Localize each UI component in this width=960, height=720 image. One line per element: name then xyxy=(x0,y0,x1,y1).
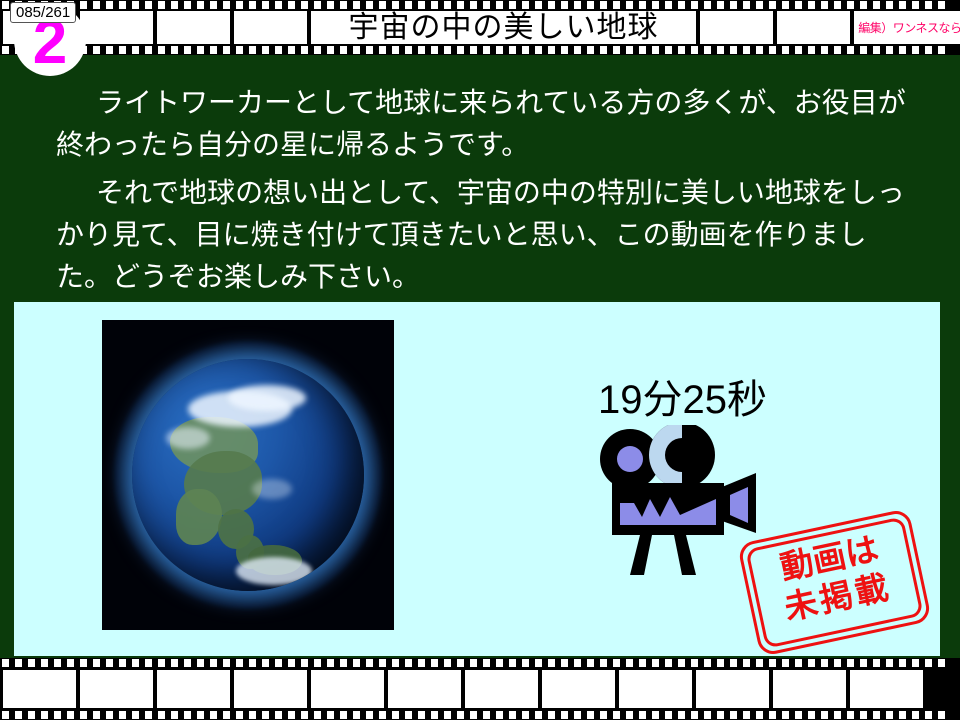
sprocket-hole xyxy=(613,711,620,719)
sprocket-hole xyxy=(249,659,256,667)
sprocket-hole xyxy=(236,659,243,667)
sprocket-hole xyxy=(275,1,282,9)
sprocket-hole xyxy=(327,1,334,9)
sprocket-hole xyxy=(626,659,633,667)
sprocket-hole xyxy=(613,1,620,9)
sprocket-hole xyxy=(769,711,776,719)
duration-label: 19分25秒 xyxy=(598,378,767,422)
sprocket-hole xyxy=(561,711,568,719)
sprocket-hole xyxy=(431,711,438,719)
sprocket-hole xyxy=(496,46,503,54)
film-frame xyxy=(234,670,307,708)
sprocket-row-bottom xyxy=(0,711,960,719)
sprocket-hole xyxy=(548,711,555,719)
sprocket-hole xyxy=(106,711,113,719)
sprocket-hole xyxy=(2,1,9,9)
sprocket-hole xyxy=(626,1,633,9)
sprocket-hole xyxy=(652,46,659,54)
sprocket-hole xyxy=(483,711,490,719)
filmstrip-top-frames: 宇宙の中の美しい地球 編集）ワンネスなら-YASKA xyxy=(0,11,960,44)
sprocket-hole xyxy=(158,659,165,667)
sprocket-hole xyxy=(691,46,698,54)
sprocket-hole xyxy=(340,1,347,9)
sprocket-hole xyxy=(899,46,906,54)
sprocket-hole xyxy=(821,659,828,667)
sprocket-hole xyxy=(366,1,373,9)
sprocket-hole xyxy=(314,711,321,719)
filmstrip-top: 宇宙の中の美しい地球 編集）ワンネスなら-YASKA xyxy=(0,0,960,55)
sprocket-hole xyxy=(574,711,581,719)
sprocket-hole xyxy=(873,711,880,719)
sprocket-hole xyxy=(522,711,529,719)
film-frame xyxy=(773,670,846,708)
sprocket-hole xyxy=(392,659,399,667)
sprocket-hole xyxy=(67,659,74,667)
sprocket-hole xyxy=(80,659,87,667)
sprocket-hole xyxy=(197,711,204,719)
sprocket-hole xyxy=(262,711,269,719)
sprocket-hole xyxy=(912,711,919,719)
sprocket-hole xyxy=(457,659,464,667)
sprocket-row-bottom-upper xyxy=(0,659,960,667)
sprocket-hole xyxy=(717,1,724,9)
sprocket-hole xyxy=(782,659,789,667)
sprocket-hole xyxy=(106,46,113,54)
sprocket-hole xyxy=(405,1,412,9)
sprocket-hole xyxy=(236,1,243,9)
sprocket-hole xyxy=(834,1,841,9)
sprocket-hole xyxy=(145,46,152,54)
sprocket-hole xyxy=(184,46,191,54)
cloud-patch-pacific xyxy=(252,479,292,499)
sprocket-hole xyxy=(847,711,854,719)
sprocket-hole xyxy=(821,46,828,54)
sprocket-hole xyxy=(496,711,503,719)
sprocket-hole xyxy=(327,659,334,667)
sprocket-hole xyxy=(509,1,516,9)
sprocket-hole xyxy=(613,46,620,54)
sprocket-hole xyxy=(730,711,737,719)
earth-photo xyxy=(102,320,394,630)
sprocket-hole xyxy=(54,659,61,667)
sprocket-hole xyxy=(210,711,217,719)
sprocket-hole xyxy=(132,711,139,719)
film-frame xyxy=(619,670,692,708)
sprocket-hole xyxy=(808,659,815,667)
sprocket-hole xyxy=(262,1,269,9)
sprocket-hole xyxy=(600,1,607,9)
sprocket-hole xyxy=(691,711,698,719)
sprocket-hole xyxy=(301,46,308,54)
sprocket-hole xyxy=(210,659,217,667)
page-counter: 085/261 xyxy=(10,2,76,23)
sprocket-hole xyxy=(353,46,360,54)
film-frame xyxy=(542,670,615,708)
sprocket-hole xyxy=(28,659,35,667)
sprocket-hole xyxy=(314,659,321,667)
page-title: 宇宙の中の美しい地球 xyxy=(311,13,696,43)
sprocket-hole xyxy=(756,46,763,54)
sprocket-hole xyxy=(223,711,230,719)
film-frame xyxy=(388,670,461,708)
sprocket-hole xyxy=(379,711,386,719)
sprocket-hole xyxy=(717,659,724,667)
sprocket-hole xyxy=(717,46,724,54)
sprocket-hole xyxy=(93,46,100,54)
sprocket-hole xyxy=(743,1,750,9)
sprocket-hole xyxy=(535,659,542,667)
sprocket-hole xyxy=(600,659,607,667)
sprocket-hole xyxy=(743,711,750,719)
sprocket-hole xyxy=(15,711,22,719)
sprocket-hole xyxy=(340,659,347,667)
sprocket-hole xyxy=(665,711,672,719)
sprocket-hole xyxy=(223,1,230,9)
sprocket-hole xyxy=(2,659,9,667)
sprocket-hole xyxy=(223,46,230,54)
film-frame xyxy=(777,11,850,44)
sprocket-hole xyxy=(392,46,399,54)
sprocket-hole xyxy=(106,1,113,9)
sprocket-hole xyxy=(197,46,204,54)
sprocket-hole xyxy=(288,711,295,719)
sprocket-hole xyxy=(171,1,178,9)
film-frame xyxy=(700,11,773,44)
sprocket-hole xyxy=(106,659,113,667)
sprocket-hole xyxy=(548,659,555,667)
film-frame xyxy=(80,670,153,708)
sprocket-hole xyxy=(340,46,347,54)
film-frame xyxy=(465,670,538,708)
sprocket-hole xyxy=(795,1,802,9)
sprocket-hole xyxy=(249,46,256,54)
sprocket-hole xyxy=(15,659,22,667)
sprocket-hole xyxy=(769,46,776,54)
sprocket-hole xyxy=(899,659,906,667)
sprocket-hole xyxy=(678,1,685,9)
sprocket-hole xyxy=(756,711,763,719)
body-text: ライトワーカーとして地球に来られている方の多くが、お役目が終わったら自分の星に帰… xyxy=(56,82,916,304)
sprocket-hole xyxy=(184,711,191,719)
sprocket-hole xyxy=(938,659,945,667)
sprocket-hole xyxy=(808,1,815,9)
sprocket-hole xyxy=(912,1,919,9)
sprocket-hole xyxy=(457,711,464,719)
sprocket-hole xyxy=(678,711,685,719)
sprocket-hole xyxy=(431,46,438,54)
sprocket-hole xyxy=(860,711,867,719)
sprocket-hole xyxy=(353,1,360,9)
sprocket-hole xyxy=(665,1,672,9)
film-frame xyxy=(157,11,230,44)
sprocket-hole xyxy=(821,1,828,9)
sprocket-row-top xyxy=(0,1,960,9)
sprocket-hole xyxy=(938,711,945,719)
sprocket-hole xyxy=(834,46,841,54)
sprocket-hole xyxy=(249,711,256,719)
sprocket-hole xyxy=(93,1,100,9)
sprocket-hole xyxy=(912,659,919,667)
sprocket-hole xyxy=(93,659,100,667)
sprocket-hole xyxy=(41,659,48,667)
sprocket-row-top-lower xyxy=(0,46,960,54)
cloud-band-siberia xyxy=(228,385,306,411)
sprocket-hole xyxy=(2,46,9,54)
sprocket-hole xyxy=(548,46,555,54)
sprocket-hole xyxy=(782,1,789,9)
sprocket-hole xyxy=(457,1,464,9)
sprocket-hole xyxy=(379,46,386,54)
sprocket-hole xyxy=(28,711,35,719)
paragraph-2-text: それで地球の想い出として、宇宙の中の特別に美しい地球をしっかり見て、目に焼き付け… xyxy=(56,177,905,292)
sprocket-hole xyxy=(600,711,607,719)
sprocket-hole xyxy=(704,46,711,54)
sprocket-hole xyxy=(626,46,633,54)
sprocket-hole xyxy=(197,1,204,9)
sprocket-hole xyxy=(210,46,217,54)
sprocket-hole xyxy=(873,1,880,9)
sprocket-hole xyxy=(41,711,48,719)
sprocket-hole xyxy=(392,711,399,719)
sprocket-hole xyxy=(665,46,672,54)
sprocket-hole xyxy=(470,659,477,667)
sprocket-hole xyxy=(808,46,815,54)
sprocket-hole xyxy=(184,1,191,9)
sprocket-hole xyxy=(769,659,776,667)
sprocket-hole xyxy=(405,46,412,54)
sprocket-hole xyxy=(938,1,945,9)
sprocket-hole xyxy=(444,659,451,667)
sprocket-hole xyxy=(886,711,893,719)
sprocket-hole xyxy=(886,46,893,54)
sprocket-hole xyxy=(860,1,867,9)
credit-frame: 編集）ワンネスなら-YASKA xyxy=(854,11,960,44)
sprocket-hole xyxy=(847,659,854,667)
sprocket-hole xyxy=(405,659,412,667)
sprocket-hole xyxy=(171,46,178,54)
sprocket-hole xyxy=(730,1,737,9)
sprocket-hole xyxy=(366,46,373,54)
sprocket-hole xyxy=(275,659,282,667)
filmstrip-bottom xyxy=(0,658,960,720)
sprocket-hole xyxy=(535,1,542,9)
sprocket-hole xyxy=(639,1,646,9)
sprocket-hole xyxy=(353,711,360,719)
sprocket-hole xyxy=(405,711,412,719)
filmstrip-bottom-frames xyxy=(0,670,960,708)
sprocket-hole xyxy=(704,659,711,667)
sprocket-hole xyxy=(899,711,906,719)
sprocket-hole xyxy=(119,659,126,667)
sprocket-hole xyxy=(925,711,932,719)
sprocket-hole xyxy=(600,46,607,54)
sprocket-hole xyxy=(691,1,698,9)
sprocket-hole xyxy=(795,711,802,719)
sprocket-hole xyxy=(535,711,542,719)
sprocket-hole xyxy=(574,659,581,667)
sprocket-hole xyxy=(743,659,750,667)
sprocket-hole xyxy=(808,711,815,719)
sprocket-hole xyxy=(132,1,139,9)
sprocket-hole xyxy=(197,659,204,667)
sprocket-hole xyxy=(912,46,919,54)
sprocket-hole xyxy=(2,711,9,719)
sprocket-hole xyxy=(288,46,295,54)
sprocket-hole xyxy=(327,711,334,719)
sprocket-hole xyxy=(587,659,594,667)
sprocket-hole xyxy=(431,1,438,9)
sprocket-hole xyxy=(561,659,568,667)
sprocket-hole xyxy=(574,46,581,54)
sprocket-hole xyxy=(288,659,295,667)
sprocket-hole xyxy=(509,659,516,667)
sprocket-hole xyxy=(886,1,893,9)
sprocket-hole xyxy=(509,46,516,54)
sprocket-hole xyxy=(470,1,477,9)
sprocket-hole xyxy=(860,46,867,54)
sprocket-hole xyxy=(262,659,269,667)
sprocket-hole xyxy=(639,711,646,719)
sprocket-hole xyxy=(873,46,880,54)
sprocket-hole xyxy=(119,711,126,719)
paragraph-2: それで地球の想い出として、宇宙の中の特別に美しい地球をしっかり見て、目に焼き付け… xyxy=(56,172,916,298)
sprocket-hole xyxy=(756,659,763,667)
sprocket-hole xyxy=(522,1,529,9)
cloud-patch-west xyxy=(166,427,210,449)
sprocket-hole xyxy=(275,711,282,719)
sprocket-hole xyxy=(509,711,516,719)
sprocket-hole xyxy=(184,659,191,667)
ice-antarctic xyxy=(236,557,312,585)
paragraph-1: ライトワーカーとして地球に来られている方の多くが、お役目が終わったら自分の星に帰… xyxy=(56,82,916,166)
sprocket-hole xyxy=(483,659,490,667)
sprocket-hole xyxy=(418,659,425,667)
sprocket-hole xyxy=(223,659,230,667)
sprocket-hole xyxy=(54,711,61,719)
sprocket-hole xyxy=(925,46,932,54)
sprocket-hole xyxy=(483,1,490,9)
sprocket-hole xyxy=(418,46,425,54)
sprocket-hole xyxy=(444,1,451,9)
sprocket-hole xyxy=(236,46,243,54)
sprocket-hole xyxy=(587,711,594,719)
sprocket-hole xyxy=(834,659,841,667)
film-frame xyxy=(157,670,230,708)
sprocket-hole xyxy=(847,46,854,54)
sprocket-hole xyxy=(249,1,256,9)
sprocket-hole xyxy=(730,46,737,54)
sprocket-hole xyxy=(769,1,776,9)
sprocket-hole xyxy=(288,1,295,9)
sprocket-hole xyxy=(496,1,503,9)
sprocket-hole xyxy=(314,46,321,54)
sprocket-hole xyxy=(886,659,893,667)
sprocket-hole xyxy=(470,711,477,719)
sprocket-hole xyxy=(392,1,399,9)
sprocket-hole xyxy=(236,711,243,719)
sprocket-hole xyxy=(301,711,308,719)
sprocket-hole xyxy=(119,46,126,54)
sprocket-hole xyxy=(171,711,178,719)
sprocket-hole xyxy=(639,659,646,667)
landmass-india xyxy=(176,489,222,545)
sprocket-hole xyxy=(587,46,594,54)
sprocket-hole xyxy=(158,46,165,54)
sprocket-hole xyxy=(821,711,828,719)
sprocket-hole xyxy=(418,1,425,9)
sprocket-hole xyxy=(379,1,386,9)
film-frame xyxy=(696,670,769,708)
sprocket-hole xyxy=(210,1,217,9)
paragraph-1-text: ライトワーカーとして地球に来られている方の多くが、お役目が終わったら自分の星に帰… xyxy=(56,87,906,160)
sprocket-hole xyxy=(379,659,386,667)
film-frame xyxy=(311,670,384,708)
sprocket-hole xyxy=(483,46,490,54)
sprocket-hole xyxy=(470,46,477,54)
sprocket-hole xyxy=(431,659,438,667)
sprocket-hole xyxy=(847,1,854,9)
sprocket-hole xyxy=(301,1,308,9)
sprocket-hole xyxy=(678,659,685,667)
sprocket-hole xyxy=(444,711,451,719)
sprocket-hole xyxy=(340,711,347,719)
sprocket-hole xyxy=(743,46,750,54)
sprocket-hole xyxy=(652,659,659,667)
sprocket-hole xyxy=(704,711,711,719)
film-frame xyxy=(80,11,153,44)
sprocket-hole xyxy=(925,659,932,667)
sprocket-hole xyxy=(366,659,373,667)
sprocket-hole xyxy=(353,659,360,667)
sprocket-hole xyxy=(925,1,932,9)
sprocket-hole xyxy=(730,659,737,667)
sprocket-hole xyxy=(756,1,763,9)
sprocket-hole xyxy=(418,711,425,719)
sprocket-hole xyxy=(158,1,165,9)
sprocket-hole xyxy=(613,659,620,667)
sprocket-hole xyxy=(782,711,789,719)
sprocket-hole xyxy=(561,1,568,9)
sprocket-hole xyxy=(652,1,659,9)
sprocket-hole xyxy=(782,46,789,54)
sprocket-hole xyxy=(67,711,74,719)
sprocket-hole xyxy=(873,659,880,667)
sprocket-hole xyxy=(860,659,867,667)
sprocket-hole xyxy=(80,711,87,719)
sprocket-hole xyxy=(327,46,334,54)
sprocket-hole xyxy=(262,46,269,54)
sprocket-hole xyxy=(145,1,152,9)
sprocket-hole xyxy=(834,711,841,719)
sprocket-hole xyxy=(561,46,568,54)
sprocket-hole xyxy=(145,711,152,719)
slide-canvas: 宇宙の中の美しい地球 編集）ワンネスなら-YASKA 2 085/261 ライト… xyxy=(0,0,960,720)
title-frame: 宇宙の中の美しい地球 xyxy=(311,11,696,44)
sprocket-hole xyxy=(535,46,542,54)
sprocket-hole xyxy=(899,1,906,9)
film-frame xyxy=(234,11,307,44)
credit-label: 編集）ワンネスなら-YASKA xyxy=(856,22,960,34)
sprocket-hole xyxy=(132,46,139,54)
sprocket-hole xyxy=(678,46,685,54)
sprocket-hole xyxy=(366,711,373,719)
sprocket-hole xyxy=(132,659,139,667)
earth-globe xyxy=(132,359,364,591)
sprocket-hole xyxy=(444,46,451,54)
sprocket-hole xyxy=(691,659,698,667)
sprocket-hole xyxy=(275,46,282,54)
sprocket-hole xyxy=(314,1,321,9)
